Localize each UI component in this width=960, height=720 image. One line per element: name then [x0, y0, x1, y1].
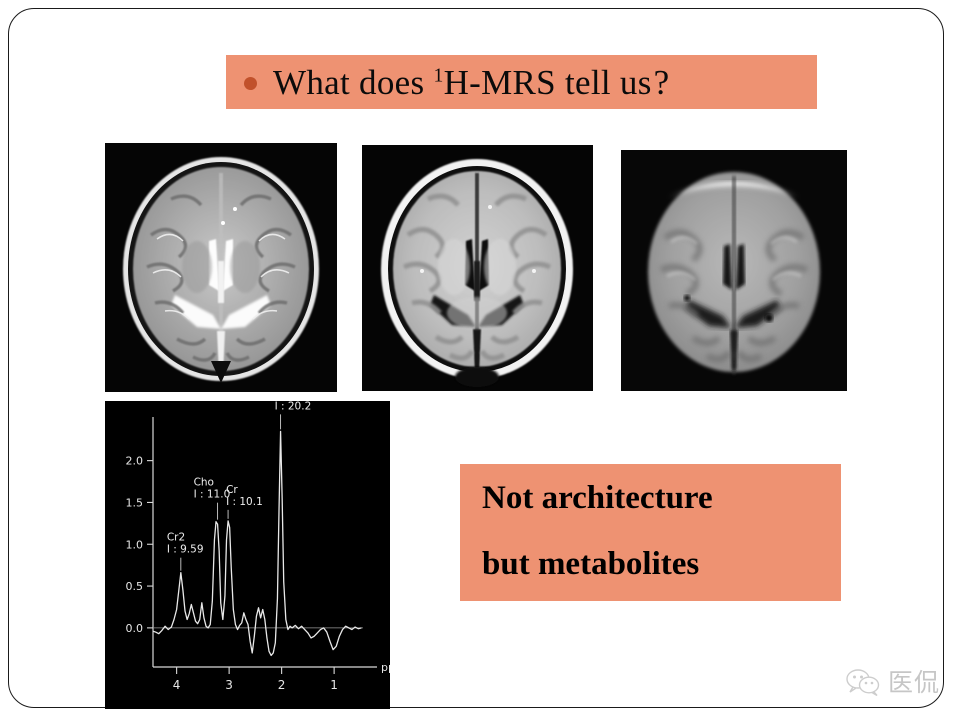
mrs-spectrum-plot: 0.00.51.01.52.04321ppmNAAI : 20.2ChoI : …	[105, 401, 390, 709]
y-tick-label: 2.0	[126, 455, 144, 468]
title-prefix: What does	[273, 63, 433, 102]
x-tick-label: 1	[330, 678, 338, 692]
peak-intensity-label: I : 11.0	[194, 489, 231, 501]
peak-label: Cr	[226, 484, 238, 496]
watermark: 医侃	[845, 661, 951, 703]
x-tick-label: 3	[225, 678, 233, 692]
dwi-brain-render	[621, 150, 847, 391]
axial-t1-weighted-mri	[362, 145, 593, 391]
title-main: H-MRS tell us	[444, 63, 652, 102]
y-tick-label: 0.0	[126, 622, 144, 635]
mrs-spectrum-chart: 0.00.51.01.52.04321ppmNAAI : 20.2ChoI : …	[105, 401, 390, 709]
watermark-text: 医侃	[888, 670, 940, 695]
peak-label: Cho	[194, 477, 214, 489]
peak-label: Cr2	[167, 532, 185, 544]
y-tick-label: 0.5	[126, 580, 144, 593]
peak-intensity-label: I : 9.59	[167, 544, 204, 556]
x-tick-label: 4	[173, 678, 181, 692]
slide-title-banner: What does 1H-MRS tell us?	[226, 55, 817, 109]
statement-line-2: but metabolites	[482, 548, 841, 581]
axial-diffusion-weighted-mri	[621, 150, 847, 391]
y-tick-label: 1.0	[126, 538, 144, 551]
peak-intensity-label: I : 10.1	[226, 496, 263, 508]
t1-brain-render	[362, 145, 593, 391]
title-superscript: 1	[433, 65, 443, 86]
y-tick-label: 1.5	[126, 496, 144, 509]
statement-line-1: Not architecture	[482, 482, 841, 515]
x-axis-label: ppm	[381, 661, 390, 674]
page-title: What does 1H-MRS tell us?	[273, 65, 670, 100]
t2-brain-render	[105, 143, 337, 392]
axial-t2-weighted-mri	[105, 143, 337, 392]
slide-frame: What does 1H-MRS tell us?	[8, 8, 944, 708]
bullet-dot-icon	[244, 77, 257, 90]
statement-box: Not architecture but metabolites	[460, 464, 841, 601]
title-question-mark: ?	[654, 63, 670, 102]
wechat-icon	[845, 668, 881, 696]
x-tick-label: 2	[278, 678, 286, 692]
peak-intensity-label: I : 20.2	[275, 401, 312, 412]
